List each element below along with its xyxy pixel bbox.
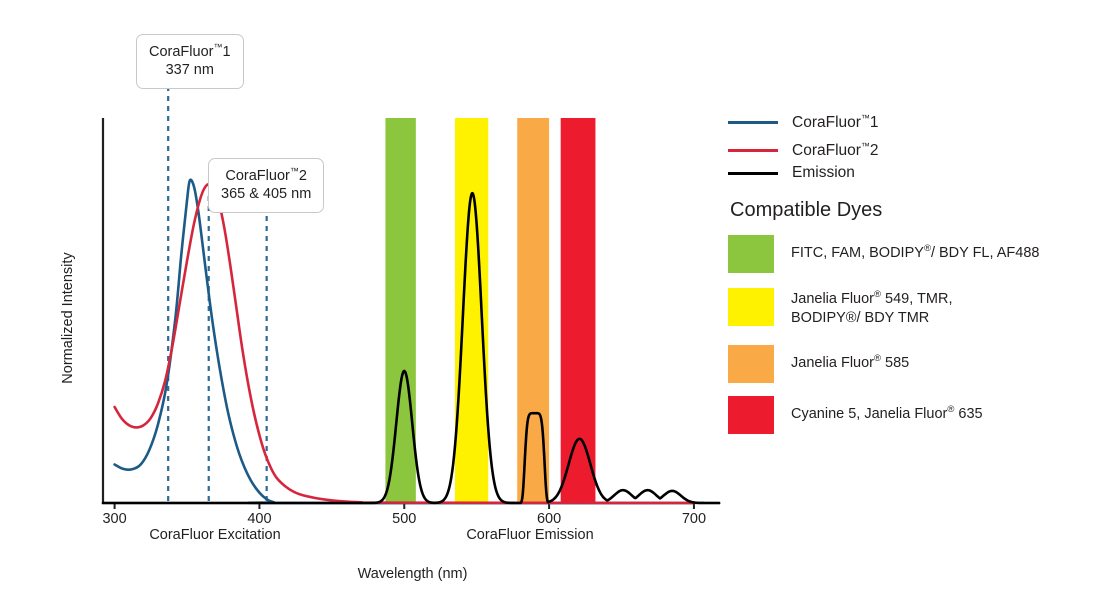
registered-symbol: ®	[874, 353, 881, 364]
dye-1-text-b: 549, TMR,	[881, 291, 952, 307]
dye-color-swatch	[728, 396, 774, 434]
legend-series-0-suffix: 1	[870, 114, 879, 131]
legend-line-swatch	[728, 149, 778, 152]
callout-2-value: 365 & 405 nm	[221, 185, 311, 204]
registered-symbol: ®	[924, 243, 931, 254]
trademark-symbol: ™	[861, 141, 870, 151]
dye-1-text-line2: BODIPY®/ BDY TMR	[791, 310, 929, 326]
x-axis-section-emission: CoraFluor Emission	[300, 527, 760, 543]
compatible-dyes-heading: Compatible Dyes	[730, 199, 882, 222]
callout-corafluor1: CoraFluor™1 337 nm	[136, 34, 244, 89]
emission-band-3	[561, 118, 596, 503]
registered-symbol: ®	[874, 289, 881, 300]
emission-band-1	[455, 118, 488, 503]
dye-entry-yellow: Janelia Fluor® 549, TMR, BODIPY®/ BDY TM…	[728, 288, 952, 329]
y-axis-label: Normalized Intensity	[60, 218, 76, 418]
dye-color-swatch	[728, 235, 774, 273]
dye-1-text-a: Janelia Fluor	[791, 291, 874, 307]
trademark-symbol: ™	[290, 166, 299, 176]
callout-2-suffix: 2	[299, 168, 307, 184]
x-axis-label: Wavelength (nm)	[0, 566, 825, 582]
x-tick-label-700: 700	[664, 511, 724, 527]
dye-3-text-b: 635	[954, 406, 982, 422]
spectral-chart-figure: CoraFluor™1 337 nm CoraFluor™2 365 & 405…	[0, 0, 1110, 612]
legend-panel: CoraFluor™1 CoraFluor™2 Emission Compati…	[728, 0, 1110, 612]
dye-2-text-a: Janelia Fluor	[791, 355, 874, 371]
legend-series-corafluor2: CoraFluor™2	[728, 141, 879, 160]
x-tick-label-300: 300	[85, 511, 145, 527]
dye-2-text-b: 585	[881, 355, 909, 371]
trademark-symbol: ™	[861, 113, 870, 123]
legend-series-2-label: Emission	[792, 164, 855, 182]
legend-series-1-label: CoraFluor	[792, 142, 861, 159]
x-tick-label-400: 400	[229, 511, 289, 527]
callout-2-name: CoraFluor	[225, 168, 289, 184]
x-tick-label-600: 600	[519, 511, 579, 527]
legend-series-emission: Emission	[728, 164, 855, 182]
callout-1-name: CoraFluor	[149, 44, 213, 60]
legend-series-corafluor1: CoraFluor™1	[728, 113, 879, 132]
callout-1-value: 337 nm	[149, 61, 231, 80]
callout-1-suffix: 1	[222, 44, 230, 60]
x-tick-label-500: 500	[374, 511, 434, 527]
dye-0-text-b: / BDY FL, AF488	[931, 245, 1040, 261]
dye-color-swatch	[728, 288, 774, 326]
legend-line-swatch	[728, 172, 778, 175]
dye-3-text-a: Cyanine 5, Janelia Fluor	[791, 406, 947, 422]
callout-corafluor2: CoraFluor™2 365 & 405 nm	[208, 158, 324, 213]
legend-line-swatch	[728, 121, 778, 124]
dye-0-text-a: FITC, FAM, BODIPY	[791, 245, 924, 261]
legend-series-0-label: CoraFluor	[792, 114, 861, 131]
dye-entry-red: Cyanine 5, Janelia Fluor® 635	[728, 396, 983, 434]
dye-color-swatch	[728, 345, 774, 383]
legend-series-1-suffix: 2	[870, 142, 879, 159]
emission-band-0	[385, 118, 415, 503]
dye-entry-orange: Janelia Fluor® 585	[728, 345, 909, 383]
dye-entry-green: FITC, FAM, BODIPY®/ BDY FL, AF488	[728, 235, 1039, 273]
